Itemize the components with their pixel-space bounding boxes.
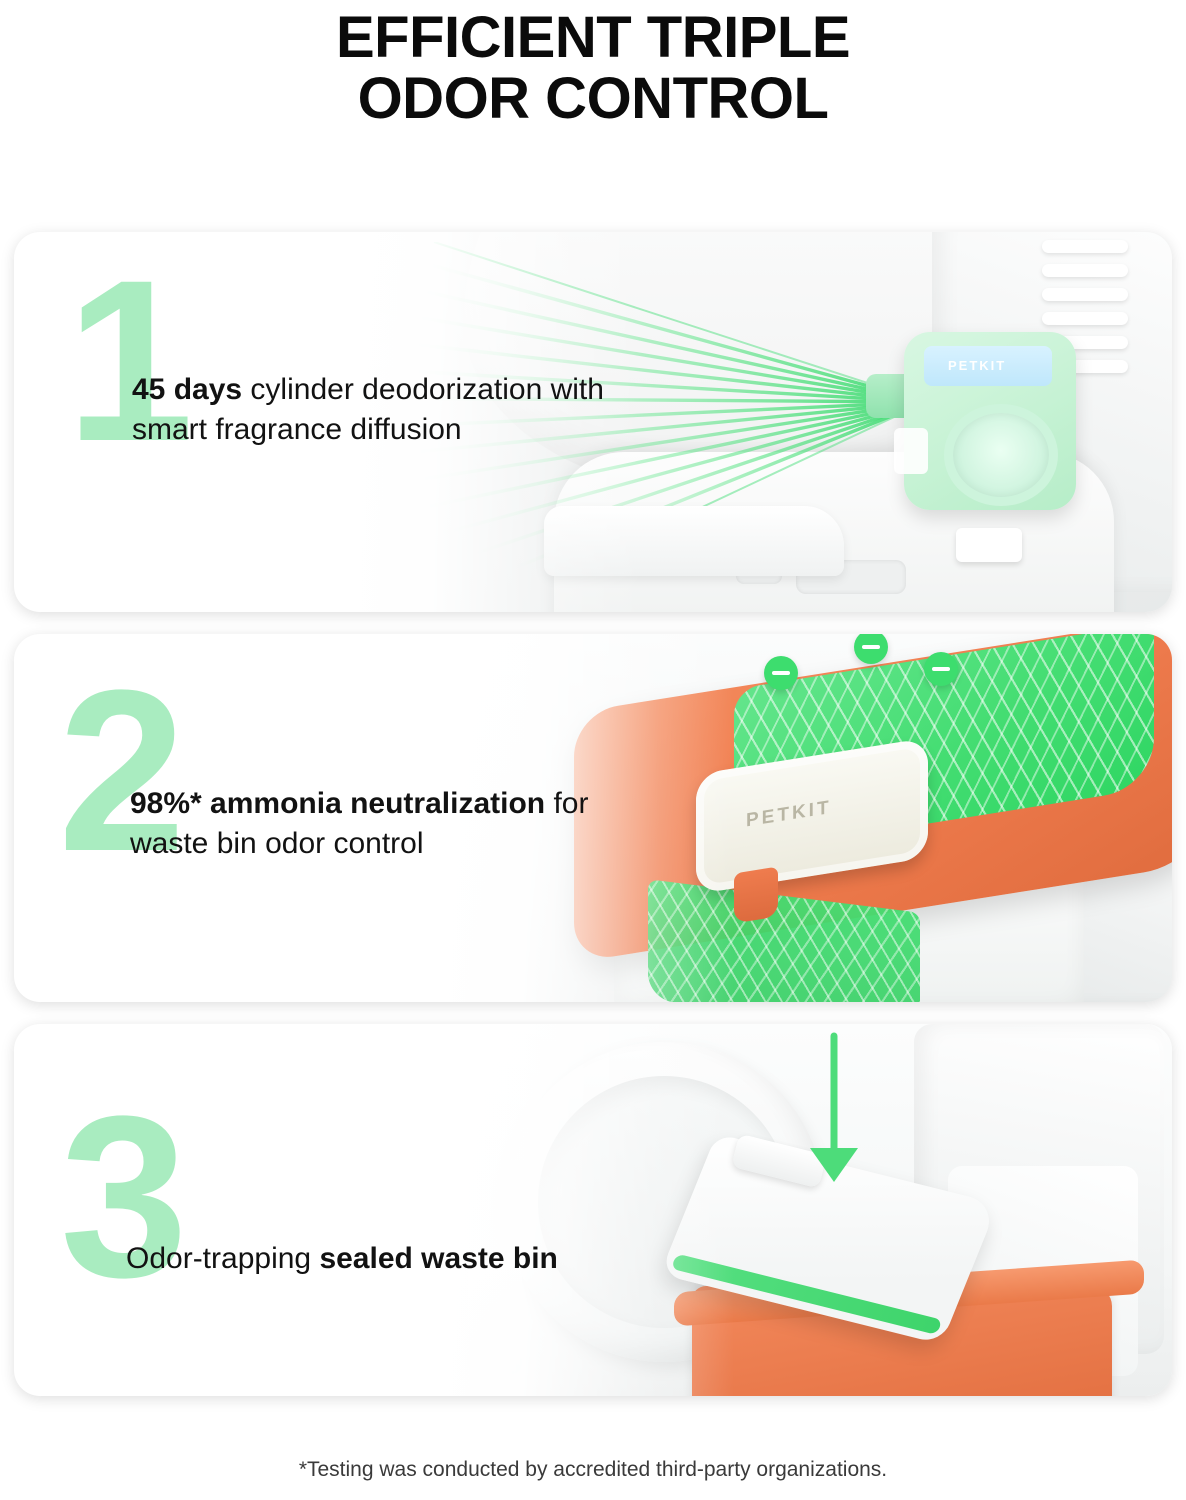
card-3-caption: Odor-trapping sealed waste bin — [126, 1239, 558, 1279]
page-title-line-2: ODOR CONTROL — [0, 69, 1186, 130]
fragrance-cylinder — [944, 404, 1058, 506]
card-3-image-fade — [434, 1024, 734, 1396]
module-brand-label: PETKIT — [948, 358, 1006, 373]
lid-latch-tab — [734, 867, 778, 924]
card-3-caption-bold: sealed waste bin — [319, 1242, 557, 1275]
feature-card-1: PETKIT 1 45 days cylinder deodorization … — [14, 232, 1172, 612]
card-3-caption-pre: Odor-trapping — [126, 1242, 319, 1275]
card-1-caption: 45 days cylinder deodorization with smar… — [132, 370, 652, 450]
minus-ion-icon — [924, 652, 958, 686]
page-title-line-1: EFFICIENT TRIPLE — [0, 8, 1186, 69]
footnote: *Testing was conducted by accredited thi… — [0, 1458, 1186, 1482]
deodorizer-module: PETKIT — [904, 332, 1076, 510]
page-title: EFFICIENT TRIPLE ODOR CONTROL — [0, 0, 1186, 130]
downward-arrow-icon — [790, 1030, 880, 1200]
feature-card-3: 3 Odor-trapping sealed waste bin — [14, 1024, 1172, 1396]
card-3-image — [434, 1024, 1172, 1396]
card-2-caption: 98%* ammonia neutralization for waste bi… — [130, 784, 650, 864]
minus-ion-icon — [764, 656, 798, 690]
card-1-caption-bold: 45 days — [132, 373, 242, 406]
cartridge-brand-label: PETKIT — [746, 797, 832, 833]
feature-card-2: PETKIT 2 98%* ammonia neutralization for… — [14, 634, 1172, 1002]
module-vent — [894, 428, 928, 474]
minus-ion-icon — [854, 634, 888, 664]
module-mount — [956, 528, 1022, 562]
card-2-caption-bold: 98%* ammonia neutralization — [130, 787, 545, 820]
feature-card-list: PETKIT 1 45 days cylinder deodorization … — [14, 232, 1172, 1418]
